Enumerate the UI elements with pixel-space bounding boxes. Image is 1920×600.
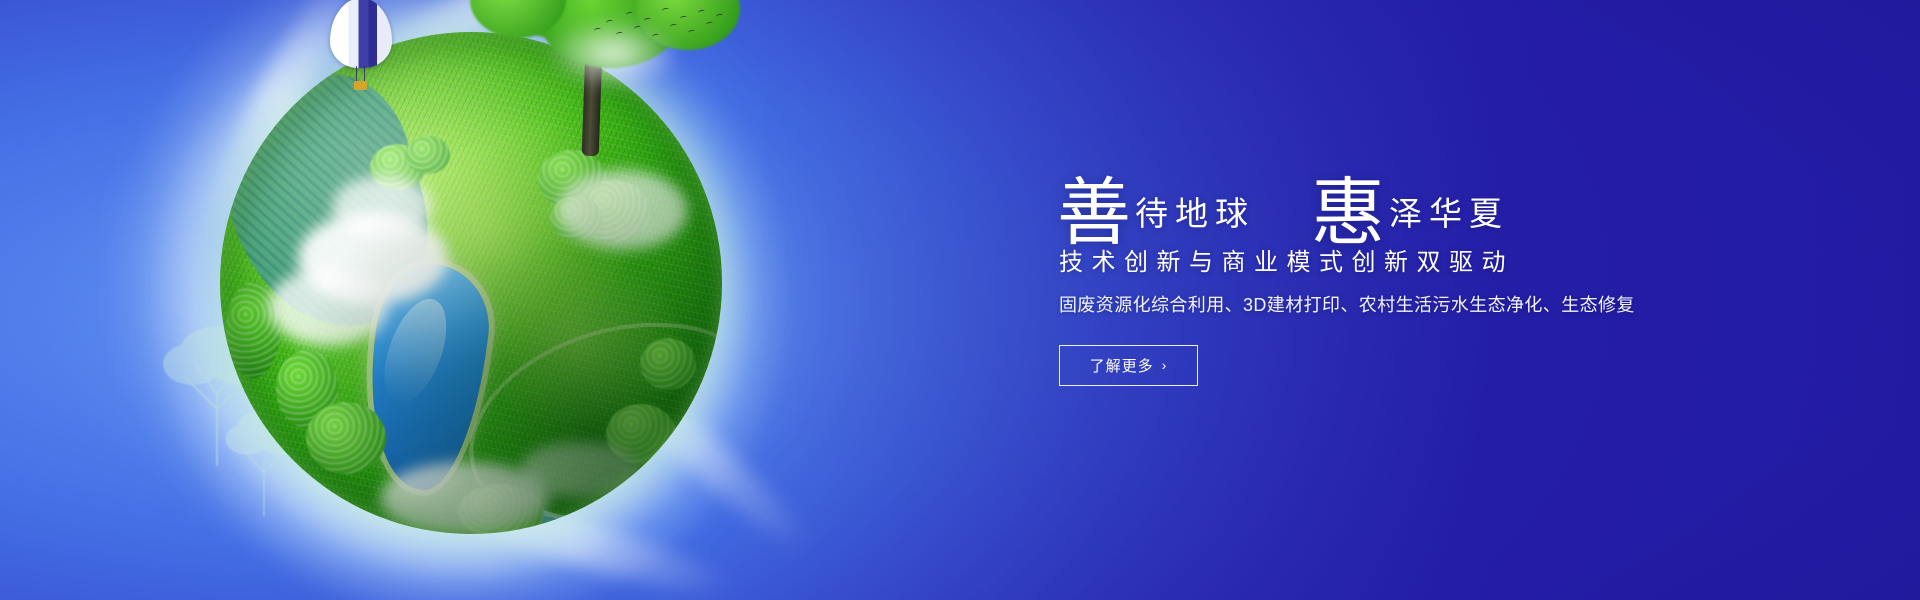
learn-more-label: 了解更多 [1090, 355, 1154, 376]
headline-rest-2: 泽华夏 [1389, 199, 1509, 232]
headline-accent-char-1: 善 [1057, 180, 1131, 248]
headline-accent-char-2: 惠 [1311, 180, 1385, 248]
banner-copy: 善 待地球 惠 泽华夏 技术创新与商业模式创新双驱动 固废资源化综合利用、3D建… [1057, 148, 1697, 386]
banner-tagline: 固废资源化综合利用、3D建材打印、农村生活污水生态净化、生态修复 [1059, 294, 1697, 317]
headline: 善 待地球 惠 泽华夏 [1057, 148, 1697, 240]
headline-rest-1: 待地球 [1135, 199, 1255, 232]
learn-more-button[interactable]: 了解更多 › [1059, 345, 1198, 386]
chevron-right-icon: › [1162, 358, 1168, 372]
hero-banner: 善 待地球 惠 泽华夏 技术创新与商业模式创新双驱动 固废资源化综合利用、3D建… [0, 0, 1920, 600]
